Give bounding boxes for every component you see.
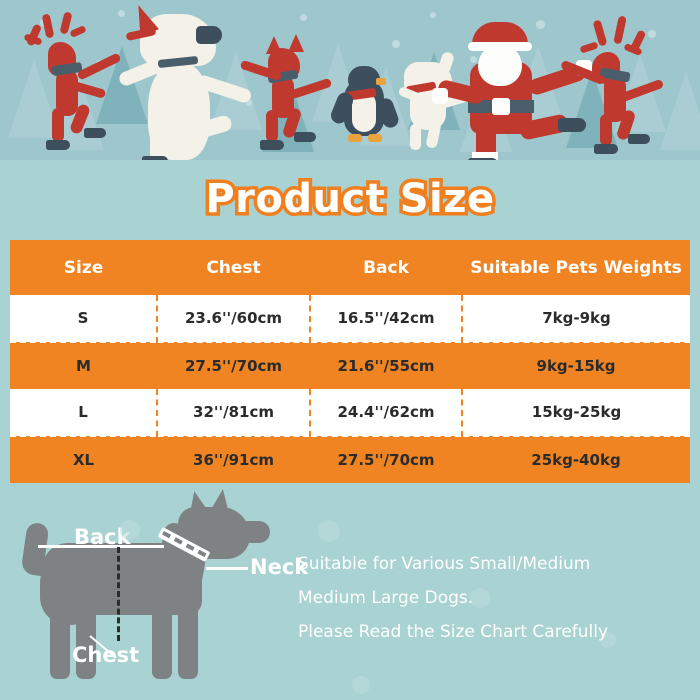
note-line: Please Read the Size Chart Carefully	[298, 615, 698, 649]
snowflake	[536, 20, 545, 29]
snowflake	[300, 14, 307, 21]
cell-chest: 23.6''/60cm	[157, 295, 310, 342]
cell-chest: 27.5''/70cm	[157, 342, 310, 389]
page-title: Product Size	[205, 176, 494, 222]
product-size-infographic: Product Size Size Chest Back Suitable Pe…	[0, 0, 700, 700]
column-header-size: Size	[10, 240, 157, 295]
pine-tree	[660, 72, 700, 150]
snowflake	[470, 56, 477, 63]
snowflake	[118, 10, 125, 17]
decorative-circle	[352, 676, 370, 694]
dog-measurement-diagram: Back Neck Chest	[10, 495, 295, 695]
table-header-row: Size Chest Back Suitable Pets Weights	[10, 240, 690, 295]
decorative-circle	[318, 520, 340, 542]
cell-chest: 36''/91cm	[157, 436, 310, 483]
size-chart-table: Size Chest Back Suitable Pets Weights S …	[10, 240, 690, 483]
neck-leader-line	[206, 567, 248, 570]
table-row: XL 36''/91cm 27.5''/70cm 25kg-40kg	[10, 436, 690, 483]
cell-weight: 9kg-15kg	[462, 342, 690, 389]
dog-snout	[232, 521, 270, 543]
chest-measure-line	[117, 547, 120, 641]
column-header-weights: Suitable Pets Weights	[462, 240, 690, 295]
cell-size: S	[10, 295, 157, 342]
cell-size: M	[10, 342, 157, 389]
snowflake	[648, 30, 656, 38]
cell-weight: 7kg-9kg	[462, 295, 690, 342]
cell-weight: 15kg-25kg	[462, 389, 690, 436]
snowflake	[392, 40, 400, 48]
table-row: S 23.6''/60cm 16.5''/42cm 7kg-9kg	[10, 295, 690, 342]
cell-size: XL	[10, 436, 157, 483]
note-line: Suitable for Various Small/Medium	[298, 547, 698, 581]
cell-back: 16.5''/42cm	[310, 295, 462, 342]
decorative-circle	[120, 520, 140, 540]
page-title-wrap: Product Size	[0, 176, 700, 222]
notes-block: Suitable for Various Small/Medium Medium…	[298, 547, 698, 649]
note-line: Medium Large Dogs.	[298, 581, 698, 615]
column-header-back: Back	[310, 240, 462, 295]
cell-back: 24.4''/62cm	[310, 389, 462, 436]
christmas-banner	[0, 0, 700, 160]
cell-back: 21.6''/55cm	[310, 342, 462, 389]
cell-chest: 32''/81cm	[157, 389, 310, 436]
table-row: L 32''/81cm 24.4''/62cm 15kg-25kg	[10, 389, 690, 436]
cell-size: L	[10, 389, 157, 436]
dog-leg	[178, 607, 198, 679]
label-chest: Chest	[72, 643, 139, 667]
cell-weight: 25kg-40kg	[462, 436, 690, 483]
dog-leg	[152, 607, 172, 679]
column-header-chest: Chest	[157, 240, 310, 295]
table-row: M 27.5''/70cm 21.6''/55cm 9kg-15kg	[10, 342, 690, 389]
snowflake	[430, 12, 436, 18]
cell-back: 27.5''/70cm	[310, 436, 462, 483]
dog-leg	[50, 607, 70, 679]
